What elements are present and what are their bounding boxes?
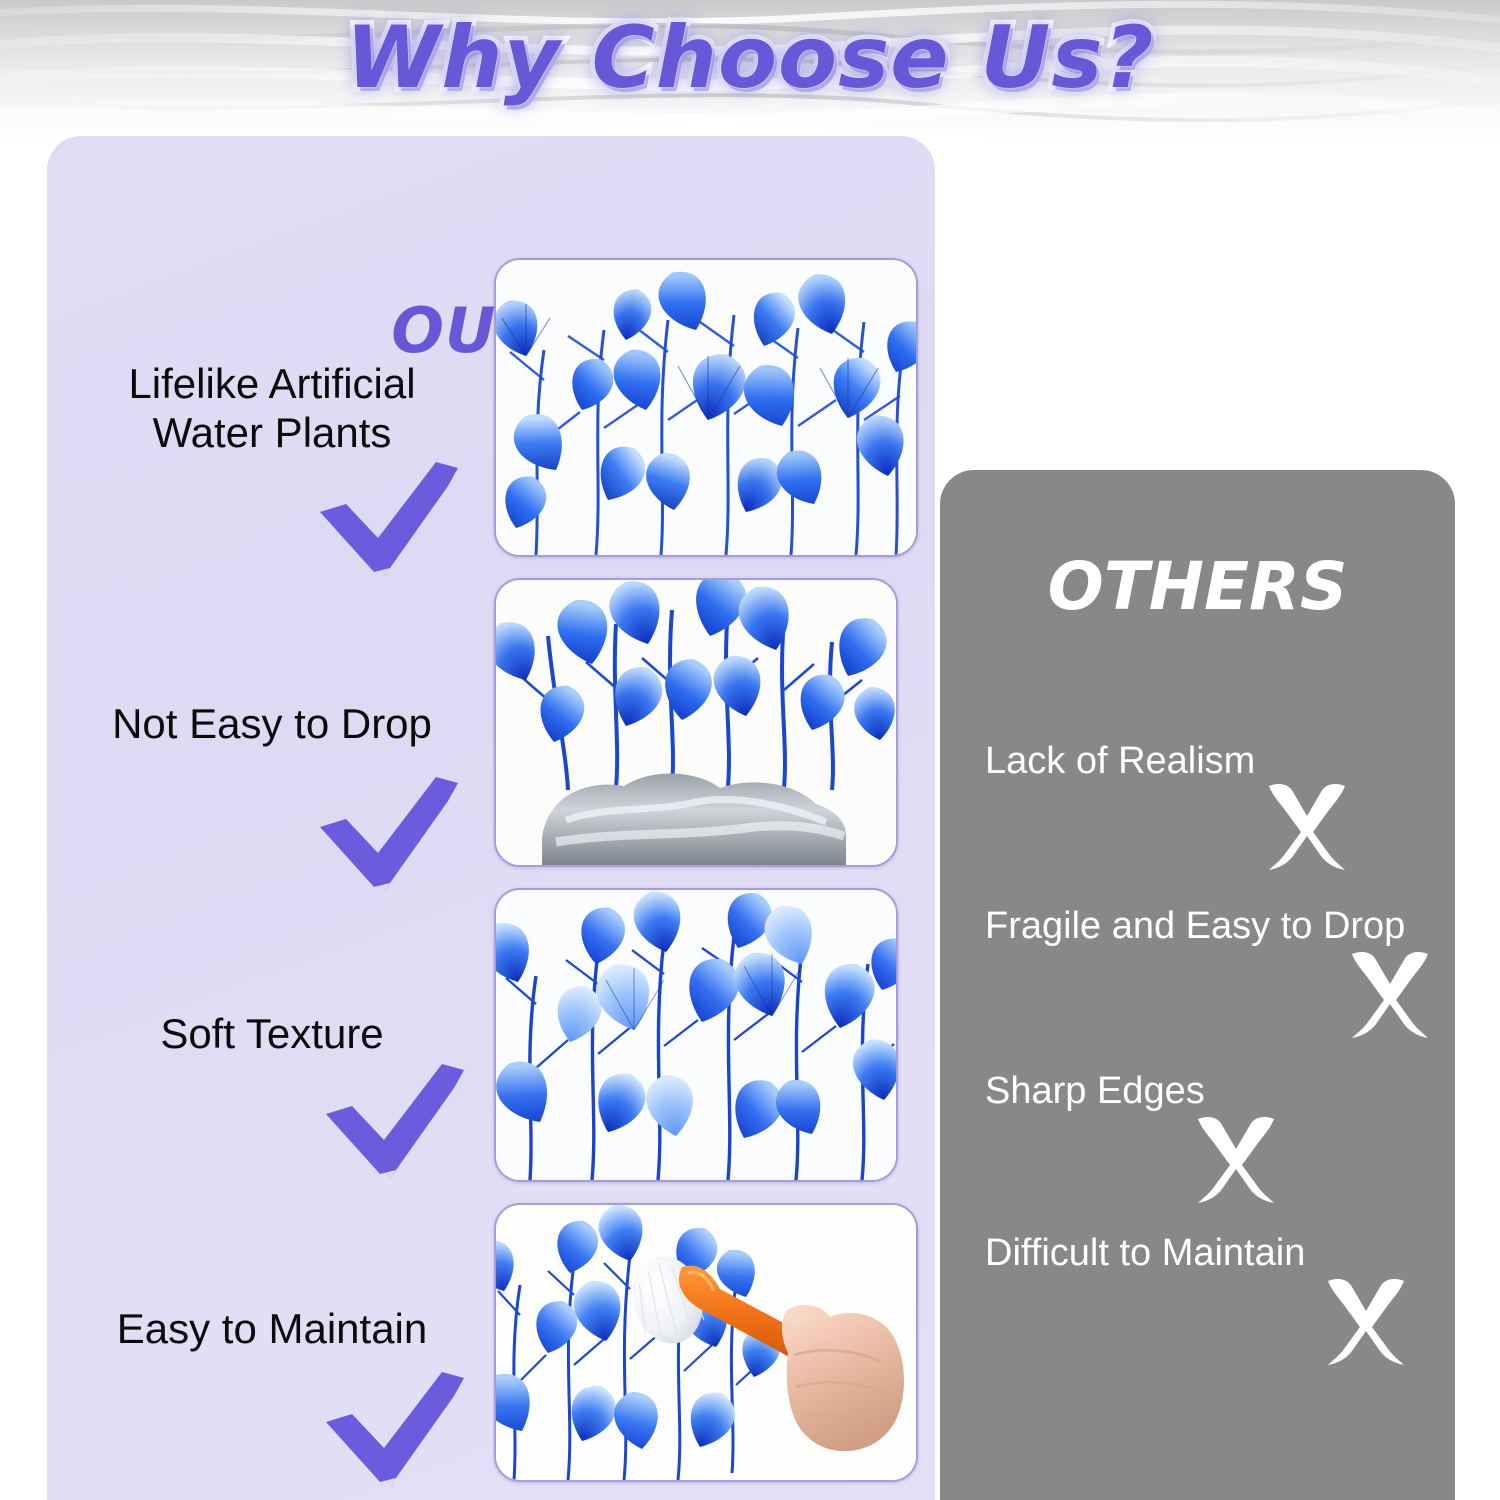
other-label-1: Lack of Realism (985, 740, 1255, 783)
check-mark-icon-3 (318, 1052, 468, 1182)
other-label-4: Difficult to Maintain (985, 1232, 1305, 1275)
feature-label-1: Lifelike Artificial Water Plants (47, 360, 497, 457)
hand-cleaning-plants-with-brush (496, 1205, 916, 1480)
x-mark-icon-4 (1320, 1275, 1412, 1367)
blue-artificial-water-plants-dense (496, 260, 916, 555)
check-mark-icon-2 (312, 765, 462, 895)
other-row-1: Lack of Realism (985, 740, 1255, 783)
others-heading: OTHERS (940, 548, 1455, 625)
wave-strokes (0, 0, 1500, 150)
x-mark-icon-3 (1190, 1113, 1282, 1205)
feature-row-2: Not Easy to Drop (47, 700, 497, 749)
product-image-card-4 (494, 1203, 918, 1482)
product-image-card-2 (494, 578, 898, 867)
blue-plants-on-ceramic-base (496, 580, 896, 865)
check-mark-icon-1 (312, 450, 462, 580)
other-row-3: Sharp Edges (985, 1070, 1205, 1113)
product-image-card-3 (494, 888, 898, 1182)
feature-label-2: Not Easy to Drop (47, 700, 497, 749)
feature-row-4: Easy to Maintain (47, 1305, 497, 1354)
product-image-card-1 (494, 258, 918, 557)
blue-plants-soft-leaves (496, 890, 896, 1180)
feature-row-1: Lifelike Artificial Water Plants (47, 360, 497, 457)
other-row-2: Fragile and Easy to Drop (985, 905, 1405, 948)
check-mark-icon-4 (318, 1360, 468, 1490)
silk-wave-background (0, 0, 1500, 150)
other-row-4: Difficult to Maintain (985, 1232, 1305, 1275)
x-mark-icon-1 (1261, 780, 1353, 872)
other-label-3: Sharp Edges (985, 1070, 1205, 1113)
x-mark-icon-2 (1344, 948, 1436, 1040)
infographic-page: Why Choose Us? OURS Lifelike Artificial … (0, 0, 1500, 1500)
feature-label-4: Easy to Maintain (47, 1305, 497, 1354)
other-label-2: Fragile and Easy to Drop (985, 905, 1405, 948)
